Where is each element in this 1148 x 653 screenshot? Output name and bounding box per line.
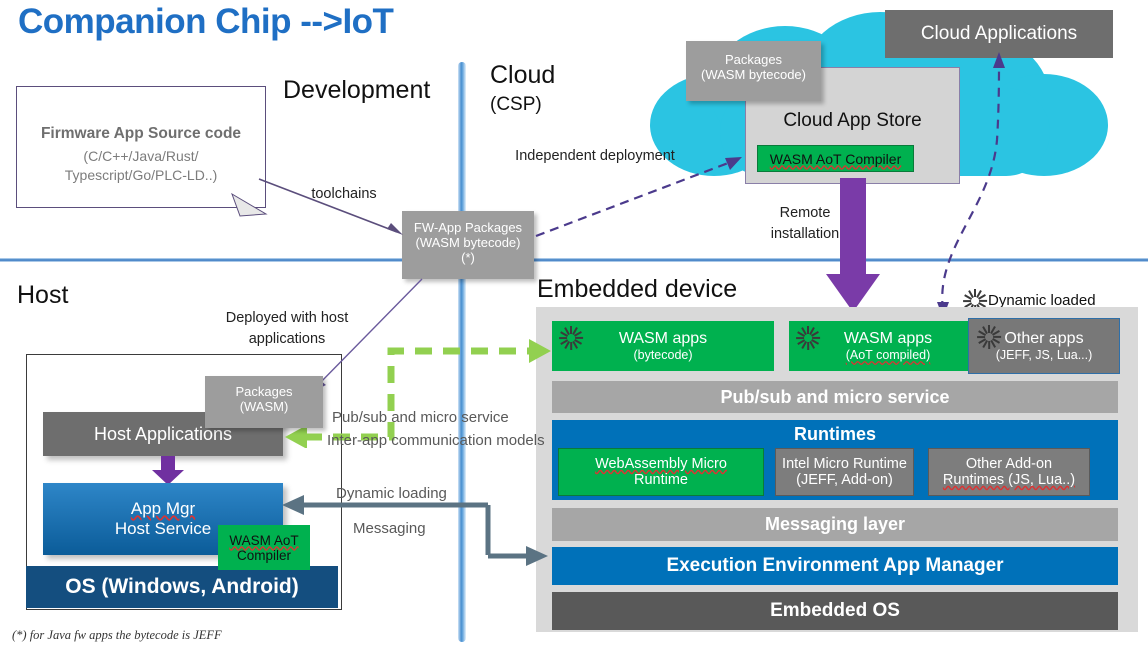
embedded-app-1-spinner-icon bbox=[795, 325, 821, 351]
embedded-runtime-2-line2: Runtimes (JS, Lua..) bbox=[943, 472, 1075, 488]
section-heading-development: Development bbox=[283, 76, 430, 105]
embedded-runtime-1-line1: Intel Micro Runtime bbox=[782, 456, 907, 472]
embedded-app-1-line1: WASM apps bbox=[844, 330, 932, 348]
host-packages-line2: (WASM) bbox=[205, 399, 323, 414]
pubsub-green-arrow bbox=[283, 333, 568, 448]
host-aot-line2: Compiler bbox=[237, 548, 291, 563]
cloud-packages-line2: (WASM bytecode) bbox=[686, 67, 821, 82]
embedded-runtimes-title: Runtimes bbox=[552, 420, 1118, 445]
embedded-runtime-1-line2: (JEFF, Add-on) bbox=[796, 472, 893, 488]
pubsub-micro-service-label: Pub/sub and micro service bbox=[332, 409, 509, 426]
fw-app-packages-callout: FW-App Packages (WASM bytecode) (*) bbox=[402, 211, 534, 279]
host-os-label: OS (Windows, Android) bbox=[65, 575, 299, 599]
embedded-runtime-2-line1: Other Add-on bbox=[966, 456, 1052, 472]
host-aot-line1: WASM AoT bbox=[229, 533, 298, 548]
embedded-messaging-layer-label: Messaging layer bbox=[765, 514, 905, 535]
embedded-app-manager-bar: Execution Environment App Manager bbox=[552, 547, 1118, 585]
embedded-app-2-spinner-icon bbox=[976, 324, 1002, 350]
remote-installation-line2: installation bbox=[771, 226, 840, 242]
source-box-heading: Firmware App Source code bbox=[41, 125, 241, 143]
page-title: Companion Chip -->IoT bbox=[18, 2, 393, 42]
host-os-bar: OS (Windows, Android) bbox=[26, 566, 338, 608]
cloud-applications-label: Cloud Applications bbox=[921, 23, 1077, 45]
embedded-os-label: Embedded OS bbox=[770, 600, 900, 622]
embedded-runtime-box-1[interactable]: Intel Micro Runtime (JEFF, Add-on) bbox=[775, 448, 914, 496]
host-wasm-aot-compiler-box[interactable]: WASM AoT Compiler bbox=[218, 525, 310, 570]
embedded-runtime-box-2[interactable]: Other Add-on Runtimes (JS, Lua..) bbox=[928, 448, 1090, 496]
embedded-runtime-0-line1: WebAssembly Micro bbox=[595, 456, 727, 472]
embedded-os-bar: Embedded OS bbox=[552, 592, 1118, 630]
footnote: (*) for Java fw apps the bytecode is JEF… bbox=[12, 628, 222, 643]
embedded-app-2-line2: (JEFF, JS, Lua...) bbox=[996, 348, 1093, 362]
messaging-label: Messaging bbox=[353, 520, 426, 537]
embedded-app-box-0[interactable]: WASM apps (bytecode) bbox=[552, 321, 774, 371]
embedded-runtime-0-line2: Runtime bbox=[634, 472, 688, 488]
embedded-pubsub-label: Pub/sub and micro service bbox=[720, 387, 949, 408]
embedded-runtime-box-0[interactable]: WebAssembly Micro Runtime bbox=[558, 448, 764, 496]
fw-packages-line3: (*) bbox=[402, 250, 534, 265]
embedded-device-panel: WASM apps (bytecode) WASM apps (AoT comp… bbox=[536, 307, 1138, 632]
section-heading-host: Host bbox=[17, 281, 68, 310]
cloud-aot-compiler-label: WASM AoT Compiler bbox=[770, 151, 901, 167]
host-app-mgr-line2: Host Service bbox=[115, 519, 211, 539]
host-app-mgr-line1: App Mgr bbox=[131, 499, 195, 519]
messaging-arrow-head bbox=[468, 543, 558, 578]
embedded-pubsub-bar: Pub/sub and micro service bbox=[552, 381, 1118, 413]
section-heading-embedded-device: Embedded device bbox=[537, 275, 737, 304]
firmware-source-box: Firmware App Source code (C/C++/Java/Rus… bbox=[16, 86, 266, 208]
embedded-app-0-line2: (bytecode) bbox=[633, 348, 692, 362]
cloud-packages-callout: Packages (WASM bytecode) bbox=[686, 41, 821, 101]
host-packages-callout: Packages (WASM) bbox=[205, 376, 323, 428]
remote-installation-label: Remote installation bbox=[750, 203, 860, 245]
embedded-app-0-line1: WASM apps bbox=[619, 330, 707, 348]
host-app-down-arrow bbox=[150, 456, 186, 486]
source-box-line2: Typescript/Go/PLC-LD..) bbox=[65, 166, 218, 185]
dynamic-loaded-arrow bbox=[925, 48, 1015, 318]
cloud-aot-compiler-box[interactable]: WASM AoT Compiler bbox=[757, 145, 914, 172]
source-box-line1: (C/C++/Java/Rust/ bbox=[83, 147, 198, 166]
independent-deployment-label: Independent deployment bbox=[500, 148, 690, 164]
fw-packages-line2: (WASM bytecode) bbox=[402, 235, 534, 250]
embedded-app-2-line1: Other apps bbox=[1004, 330, 1083, 348]
host-packages-line1: Packages bbox=[205, 376, 323, 399]
section-heading-cloud: Cloud bbox=[490, 61, 555, 90]
embedded-app-1-line2: (AoT compiled) bbox=[846, 348, 931, 362]
embedded-app-manager-label: Execution Environment App Manager bbox=[666, 555, 1003, 577]
fw-packages-line1: FW-App Packages bbox=[402, 211, 534, 235]
dynamic-loading-label: Dynamic loading bbox=[336, 485, 447, 502]
remote-installation-line1: Remote bbox=[780, 205, 831, 221]
inter-app-communication-label: Inter-app communication models bbox=[327, 432, 545, 449]
embedded-messaging-layer-bar: Messaging layer bbox=[552, 508, 1118, 541]
section-subheading-csp: (CSP) bbox=[490, 94, 542, 116]
cloud-packages-line1: Packages bbox=[686, 41, 821, 67]
remote-installation-arrow bbox=[822, 178, 884, 318]
toolchains-label: toolchains bbox=[299, 186, 389, 202]
